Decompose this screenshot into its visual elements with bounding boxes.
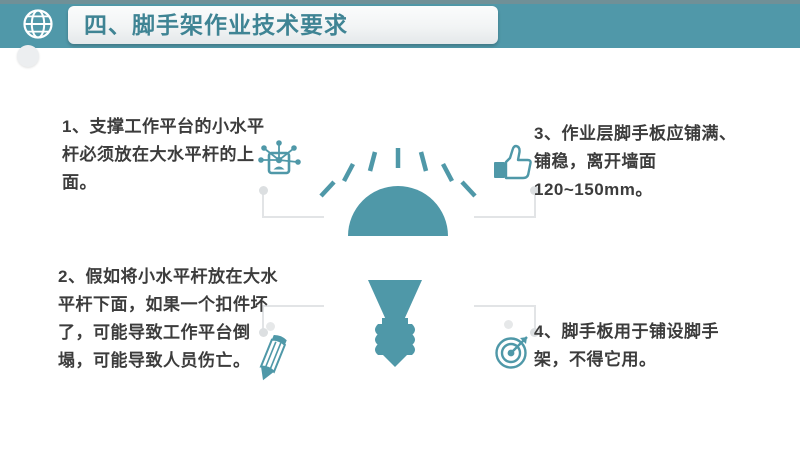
sunrise-icon — [318, 148, 478, 238]
item-text-3: 3、作业层脚手板应铺满、铺稳，离开墙面120~150mm。 — [534, 120, 749, 204]
title-plaque: 四、脚手架作业技术要求 — [68, 6, 498, 44]
header-top-strip — [0, 0, 800, 4]
item-text-4: 4、脚手板用于铺设脚手架，不得它用。 — [534, 318, 749, 374]
globe-icon — [22, 8, 54, 40]
target-icon — [494, 332, 532, 370]
page-title: 四、脚手架作业技术要求 — [84, 14, 348, 37]
slide-canvas: 四、脚手架作业技术要求 — [0, 0, 800, 450]
decorative-dot — [504, 320, 513, 329]
connector-line — [474, 216, 536, 218]
item-text-2: 2、假如将小水平杆放在大水平杆下面，如果一个扣件坏了，可能导致工作平台倒塌，可能… — [58, 263, 278, 375]
connector-bottom-right — [474, 305, 536, 333]
thumbs-up-icon — [492, 142, 534, 184]
connector-top-right — [474, 190, 536, 218]
decorative-bubble — [17, 45, 39, 67]
lightbulb-icon — [340, 278, 450, 368]
connector-line — [474, 305, 536, 307]
item-text-1: 1、支撑工作平台的小水平杆必须放在大水平杆的上面。 — [62, 113, 272, 197]
connector-line — [262, 216, 324, 218]
